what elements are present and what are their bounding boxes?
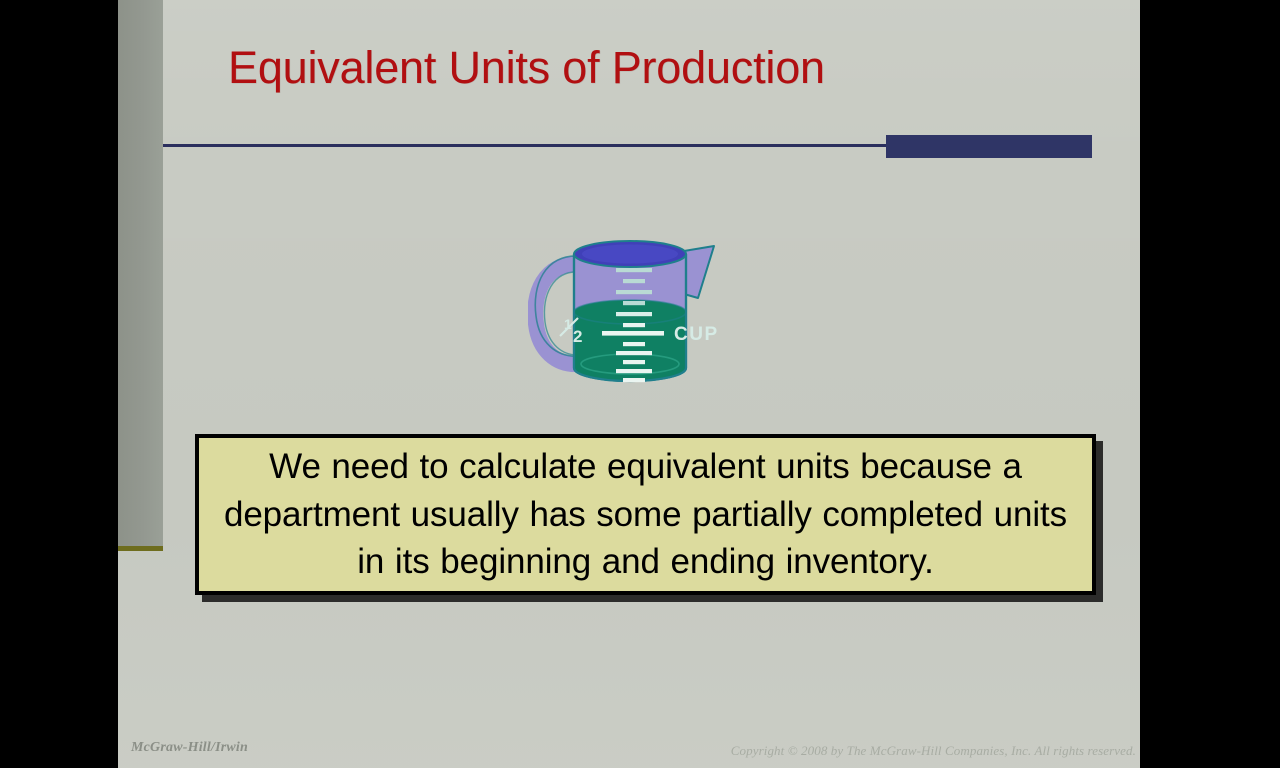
measuring-cup-illustration: 1 2 CUP <box>528 232 743 402</box>
callout-box: We need to calculate equivalent units be… <box>195 434 1096 595</box>
cup-unit-label: CUP <box>674 324 719 345</box>
title-divider-rule <box>163 144 886 147</box>
callout-text: We need to calculate equivalent units be… <box>199 443 1092 587</box>
slide-title: Equivalent Units of Production <box>228 44 1108 91</box>
presentation-viewer: Equivalent Units of Production <box>0 0 1280 768</box>
slide-left-accent-rule <box>118 546 163 551</box>
slide-canvas: Equivalent Units of Production <box>118 0 1140 768</box>
footer-publisher: McGraw-Hill/Irwin <box>131 740 248 756</box>
footer-copyright: Copyright © 2008 by The McGraw-Hill Comp… <box>731 743 1136 759</box>
cup-rim <box>574 241 686 267</box>
slide-left-accent-band <box>118 0 163 546</box>
cup-body <box>568 254 694 384</box>
title-divider-block <box>886 135 1092 158</box>
svg-text:2: 2 <box>573 327 582 346</box>
